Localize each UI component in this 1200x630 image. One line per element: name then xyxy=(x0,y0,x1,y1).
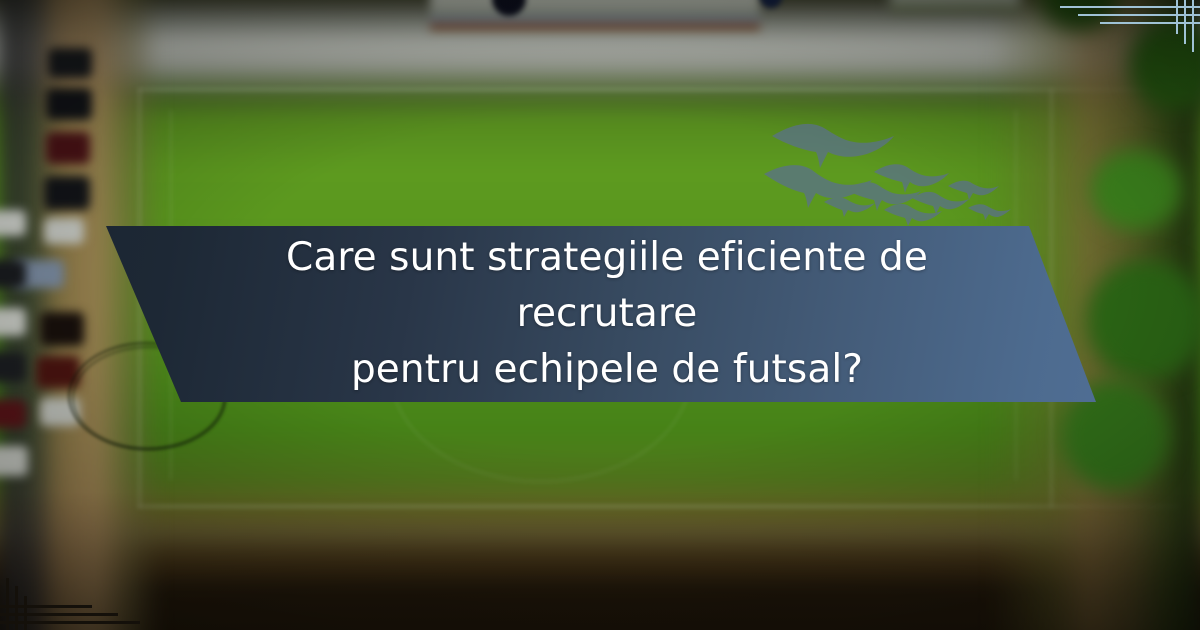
deco-line-h1 xyxy=(0,621,140,624)
corner-lines-top-right xyxy=(1060,0,1200,52)
corner-lines-bottom-left xyxy=(0,578,140,630)
deco-line-h3 xyxy=(0,605,92,608)
deco-line-v3 xyxy=(1176,0,1178,34)
social-card: Care sunt strategiile eficiente de recru… xyxy=(0,0,1200,630)
deco-line-v2 xyxy=(1184,0,1186,44)
bird-5 xyxy=(912,192,969,214)
bird-7 xyxy=(968,204,1011,220)
deco-line-h1 xyxy=(1060,6,1200,8)
flying-birds-silhouette xyxy=(762,112,1012,230)
deco-line-h2 xyxy=(1078,14,1200,16)
deco-line-v3 xyxy=(24,596,27,630)
deco-line-v1 xyxy=(1192,0,1194,52)
deco-line-v2 xyxy=(15,586,18,630)
bird-6 xyxy=(948,181,999,200)
bird-4 xyxy=(874,164,949,193)
bird-8 xyxy=(884,204,942,226)
deco-line-v1 xyxy=(6,578,9,630)
bird-1 xyxy=(772,124,894,168)
headline-banner: Care sunt strategiile eficiente de recru… xyxy=(0,226,1200,402)
bird-9 xyxy=(824,197,875,217)
headline-text: Care sunt strategiile eficiente de recru… xyxy=(227,230,987,397)
